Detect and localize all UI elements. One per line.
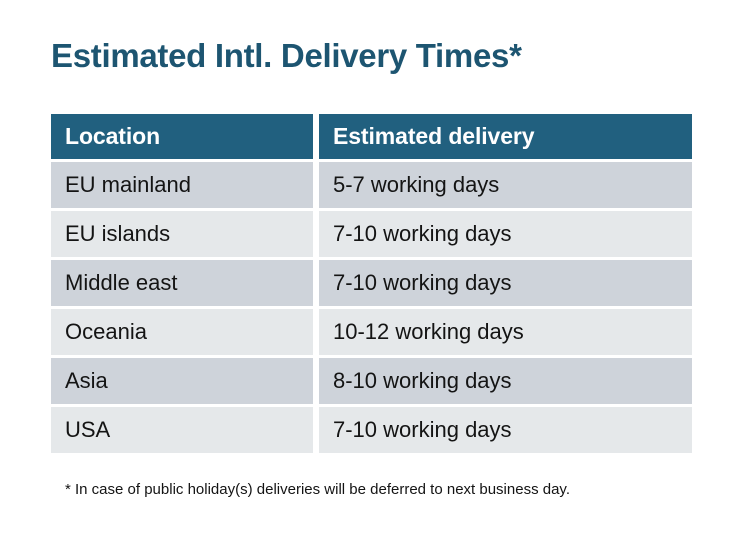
cell-location: Oceania bbox=[51, 309, 313, 355]
delivery-times-table: Location Estimated delivery EU mainland … bbox=[51, 114, 692, 453]
cell-estimated-delivery: 7-10 working days bbox=[319, 211, 692, 257]
column-header-location: Location bbox=[51, 114, 313, 159]
column-header-estimated-delivery: Estimated delivery bbox=[319, 114, 692, 159]
table-row: EU islands 7-10 working days bbox=[51, 211, 692, 257]
cell-estimated-delivery: 10-12 working days bbox=[319, 309, 692, 355]
table-row: Asia 8-10 working days bbox=[51, 358, 692, 404]
cell-location: USA bbox=[51, 407, 313, 453]
table-row: EU mainland 5-7 working days bbox=[51, 162, 692, 208]
cell-estimated-delivery: 7-10 working days bbox=[319, 260, 692, 306]
cell-estimated-delivery: 8-10 working days bbox=[319, 358, 692, 404]
page-title: Estimated Intl. Delivery Times* bbox=[51, 36, 522, 76]
table-row: USA 7-10 working days bbox=[51, 407, 692, 453]
cell-location: EU mainland bbox=[51, 162, 313, 208]
table-header-row: Location Estimated delivery bbox=[51, 114, 692, 159]
cell-location: Asia bbox=[51, 358, 313, 404]
cell-estimated-delivery: 7-10 working days bbox=[319, 407, 692, 453]
cell-location: Middle east bbox=[51, 260, 313, 306]
footnote-text: * In case of public holiday(s) deliverie… bbox=[65, 480, 570, 500]
delivery-times-page: Estimated Intl. Delivery Times* Location… bbox=[0, 0, 745, 536]
table-row: Oceania 10-12 working days bbox=[51, 309, 692, 355]
cell-location: EU islands bbox=[51, 211, 313, 257]
table-row: Middle east 7-10 working days bbox=[51, 260, 692, 306]
cell-estimated-delivery: 5-7 working days bbox=[319, 162, 692, 208]
